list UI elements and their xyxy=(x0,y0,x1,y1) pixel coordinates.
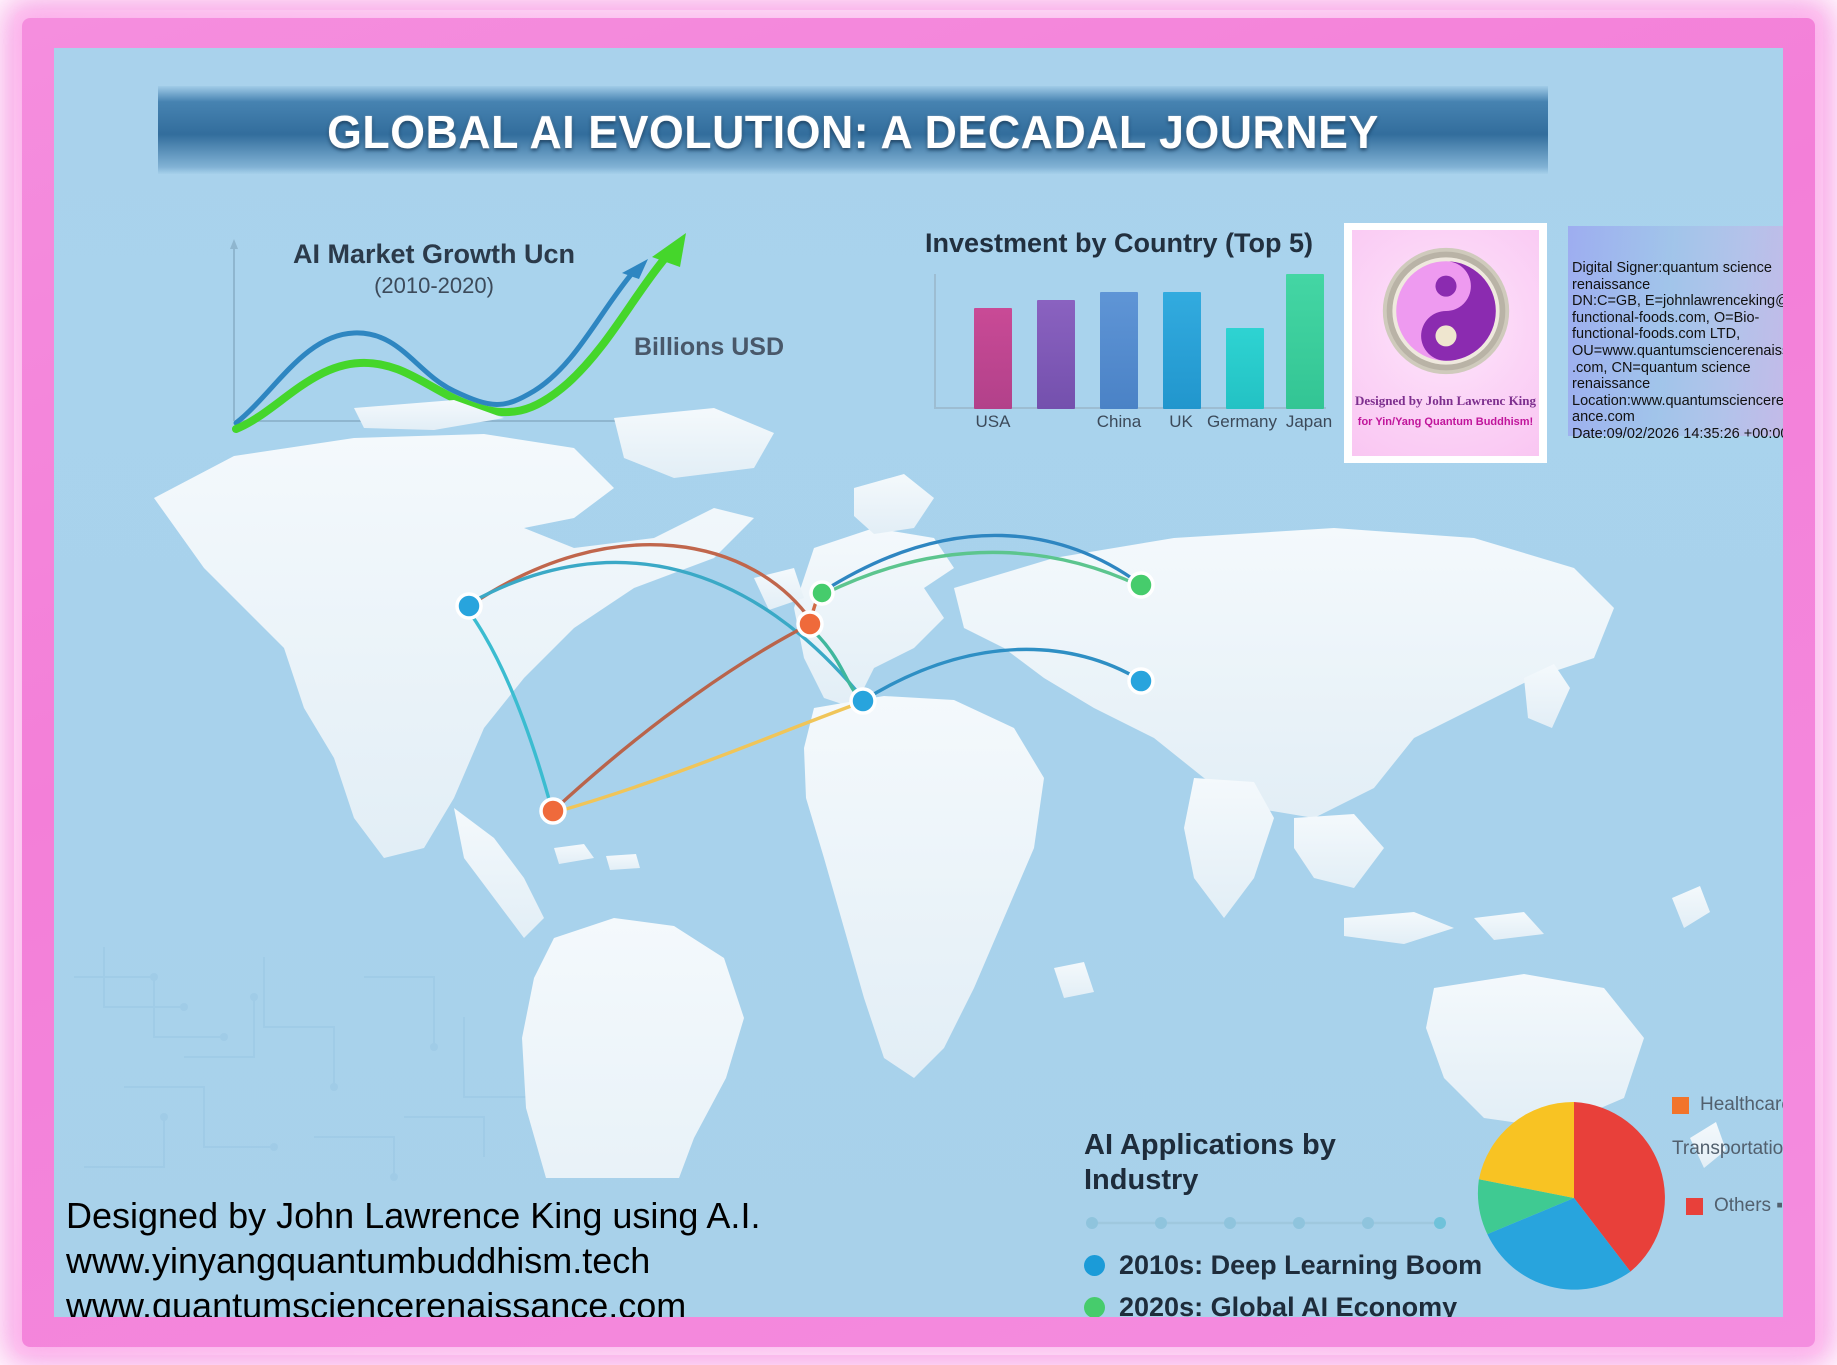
legend-swatch-healthcare xyxy=(1672,1097,1689,1114)
applications-legend-label-2020s: 2020s: Global AI Economy xyxy=(1119,1292,1457,1317)
credits-line-site-2: www.quantumsciencerenaissance.com xyxy=(66,1283,966,1317)
pie-legend-label-others: Others ▪ (30%) xyxy=(1714,1195,1783,1217)
arc-europe-to-fareast-2 xyxy=(824,552,1140,594)
arc-na-to-med xyxy=(469,545,812,622)
pie-chart-svg xyxy=(1474,1098,1674,1298)
arc-sa-to-africa xyxy=(556,702,862,812)
pie-legend-label-transportation: Transportation (15% xyxy=(1672,1138,1783,1160)
ai-applications-block: AI Applications by Industry 2010s: Deep … xyxy=(1084,1128,1514,1317)
pie-legend-item-others: Others ▪ (30%) xyxy=(1686,1195,1783,1217)
signature-line-1: Digital Signer:quantum science renaissan… xyxy=(1572,260,1783,293)
credits-line-author: Designed by John Lawrence King using A.I… xyxy=(66,1193,966,1238)
applications-legend-label-2010s: 2010s: Deep Learning Boom xyxy=(1119,1250,1482,1281)
credits-block: Designed by John Lawrence King using A.I… xyxy=(66,1193,966,1317)
applications-legend-item-2010s: 2010s: Deep Learning Boom xyxy=(1084,1250,1482,1281)
pie-chart-block: Healthcare Transportation (15% Others ▪ … xyxy=(1454,1078,1783,1317)
poster-canvas: GLOBAL AI EVOLUTION: A DECADAL JOURNEY A… xyxy=(54,48,1783,1317)
ai-applications-title: AI Applications by Industry xyxy=(1084,1128,1384,1198)
line-chart-unit-label: Billions USD xyxy=(634,333,784,362)
map-node-mediterranean xyxy=(798,612,822,636)
arc-med-to-africa xyxy=(808,626,862,700)
map-node-africa xyxy=(851,689,875,713)
arc-africa-to-eastasia xyxy=(864,649,1140,700)
pie-legend-item-transportation: Transportation (15% xyxy=(1672,1138,1783,1160)
credits-line-site-1: www.yinyangquantumbuddhism.tech xyxy=(66,1238,966,1283)
map-node-europe xyxy=(811,582,833,604)
applications-legend-item-2020s: 2020s: Global AI Economy xyxy=(1084,1292,1457,1317)
arc-sa-to-med xyxy=(554,624,810,810)
legend-swatch-others xyxy=(1686,1198,1703,1215)
map-node-north-america xyxy=(457,594,481,618)
connection-arcs xyxy=(54,378,1783,1178)
map-node-south-america xyxy=(541,799,565,823)
legend-dot-green xyxy=(1084,1297,1105,1317)
arc-europe-to-fareast xyxy=(822,535,1140,592)
signature-line-2: DN:C=GB, E=johnlawrenceking@Bio-function… xyxy=(1572,293,1783,343)
poster-frame: GLOBAL AI EVOLUTION: A DECADAL JOURNEY A… xyxy=(0,0,1837,1365)
pie-legend-label-healthcare: Healthcare xyxy=(1700,1094,1783,1116)
legend-dot-blue xyxy=(1084,1255,1105,1276)
bar-chart-title: Investment by Country (Top 5) xyxy=(909,228,1329,259)
page-title: GLOBAL AI EVOLUTION: A DECADAL JOURNEY xyxy=(179,100,1527,164)
timeline-icon xyxy=(1086,1216,1446,1230)
arc-sa-to-na xyxy=(468,610,552,810)
map-node-east-asia xyxy=(1129,669,1153,693)
pie-legend-item-healthcare: Healthcare xyxy=(1672,1094,1783,1116)
map-node-far-east xyxy=(1129,573,1153,597)
yin-yang-icon xyxy=(1379,244,1513,378)
